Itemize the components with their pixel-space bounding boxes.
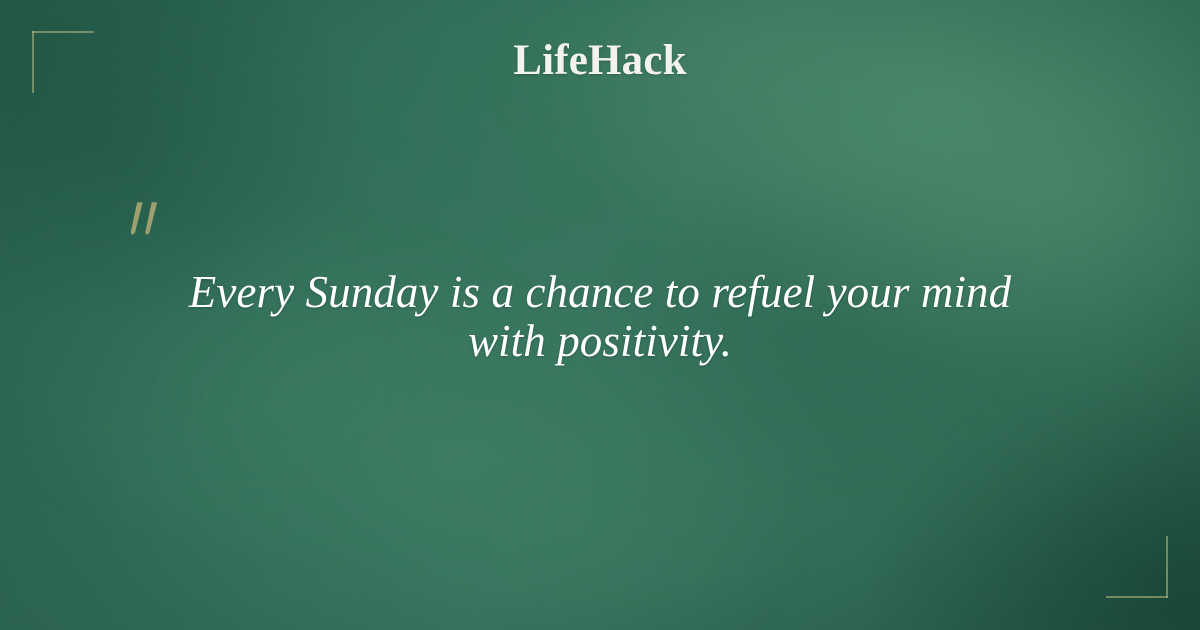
quote-block: Every Sunday is a chance to refuel your … — [150, 268, 1050, 366]
corner-bracket-bottom-right-icon — [1106, 536, 1168, 598]
double-quote-icon — [128, 200, 174, 246]
brand-logo: LifeHack — [0, 39, 1200, 82]
quote-text: Every Sunday is a chance to refuel your … — [150, 268, 1050, 366]
quote-card: LifeHack Every Sunday is a chance to ref… — [0, 0, 1200, 630]
